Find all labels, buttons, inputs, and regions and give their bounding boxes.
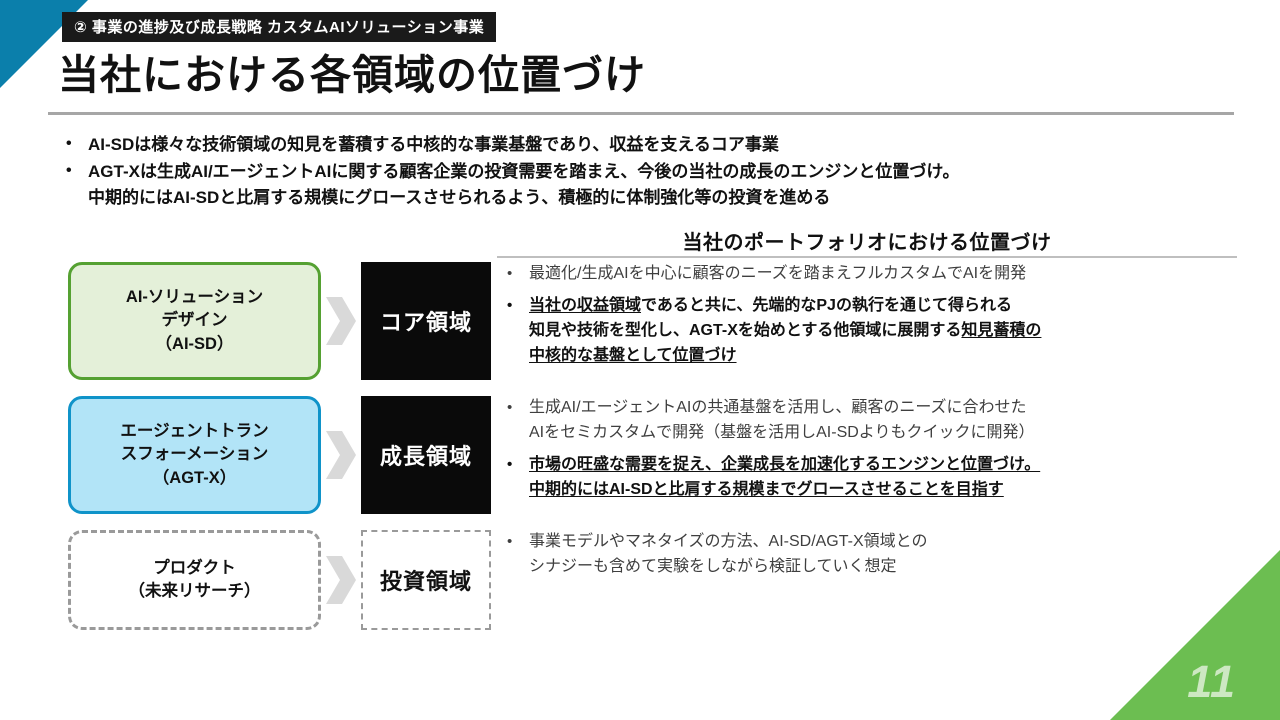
note-list: •生成AI/エージェントAIの共通基盤を活用し、顧客のニーズに合わせたAIをセミ… [491, 396, 1280, 503]
note-text-segment: 事業モデルやマネタイズの方法、AI-SD/AGT-X領域との [529, 533, 928, 550]
note-list: •最適化/生成AIを中心に顧客のニーズを踏まえフルカスタムでAIを開発•当社の収… [491, 262, 1280, 369]
matrix-row: プロダクト（未来リサーチ）投資領域•事業モデルやマネタイズの方法、AI-SD/A… [0, 530, 1280, 630]
portfolio-divider [497, 256, 1237, 258]
lead-bullet-item: •AI-SDは様々な技術領域の知見を蓄積する中核的な事業基盤であり、収益を支える… [66, 132, 1246, 158]
lead-bullet-line: 中期的にはAI-SDと比肩する規模にグロースさせられるよう、積極的に体制強化等の… [88, 185, 1246, 211]
bullet-dot-icon: • [66, 132, 88, 156]
category-tag[interactable]: 成長領域 [361, 396, 491, 514]
note-text-segment: 中期的にはAI-SDと比肩する規模までグロースさせることを目指す [529, 481, 1004, 498]
category-tag-label: 成長領域 [380, 439, 472, 471]
note-text-segment: 当社の収益領域 [529, 297, 641, 314]
domain-label-line: （AGT-X） [120, 467, 268, 490]
note-text: 生成AI/エージェントAIの共通基盤を活用し、顧客のニーズに合わせたAIをセミカ… [529, 396, 1240, 446]
note-item: •生成AI/エージェントAIの共通基盤を活用し、顧客のニーズに合わせたAIをセミ… [507, 396, 1240, 446]
domain-label-line: （AI-SD） [126, 333, 263, 356]
note-text-segment: 市場の旺盛な需要を捉え、企業成長を加速化するエンジンと位置づけ。 [529, 456, 1040, 473]
page-number: 11 [1187, 659, 1236, 704]
page-title: 当社における各領域の位置づけ [58, 41, 646, 101]
note-text: 当社の収益領域であると共に、先端的なPJの執行を通じて得られる知見や技術を型化し… [529, 294, 1240, 369]
domain-box[interactable]: プロダクト（未来リサーチ） [68, 530, 321, 630]
bullet-dot-icon: • [66, 159, 88, 183]
note-text-segment: 中核的な基盤として位置づけ [529, 347, 737, 364]
portfolio-section-heading: 当社のポートフォリオにおける位置づけ [497, 226, 1237, 255]
domain-box[interactable]: AI-ソリューションデザイン（AI-SD） [68, 262, 321, 380]
positioning-matrix: AI-ソリューションデザイン（AI-SD）コア領域•最適化/生成AIを中心に顧客… [0, 262, 1280, 630]
note-text: 市場の旺盛な需要を捉え、企業成長を加速化するエンジンと位置づけ。中期的にはAI-… [529, 453, 1240, 503]
category-tag[interactable]: コア領域 [361, 262, 491, 380]
note-text: 事業モデルやマネタイズの方法、AI-SD/AGT-X領域とのシナジーも含めて実験… [529, 530, 1240, 580]
domain-label-line: AI-ソリューション [126, 286, 263, 309]
note-text-segment: AIをセミカスタムで開発（基盤を活用しAI-SDよりもクイックに開発） [529, 424, 1034, 441]
lead-bullet-item: •AGT-Xは生成AI/エージェントAIに関する顧客企業の投資需要を踏まえ、今後… [66, 159, 1246, 211]
note-text-segment: 知見や技術を型化し、AGT-Xを始めとする他領域に展開する [529, 322, 961, 339]
lead-bullet-line: AI-SDは様々な技術領域の知見を蓄積する中核的な事業基盤であり、収益を支えるコ… [88, 132, 1246, 158]
note-text: 最適化/生成AIを中心に顧客のニーズを踏まえフルカスタムでAIを開発 [529, 262, 1240, 287]
lead-bullet-text: AGT-Xは生成AI/エージェントAIに関する顧客企業の投資需要を踏まえ、今後の… [88, 159, 1246, 211]
category-tag-label: コア領域 [380, 305, 472, 337]
domain-label-line: プロダクト [129, 557, 261, 580]
note-text-segment: 生成AI/エージェントAIの共通基盤を活用し、顧客のニーズに合わせた [529, 399, 1027, 416]
domain-box[interactable]: エージェントトランスフォーメーション（AGT-X） [68, 396, 321, 514]
note-item: •事業モデルやマネタイズの方法、AI-SD/AGT-X領域とのシナジーも含めて実… [507, 530, 1240, 580]
category-tag-label: 投資領域 [380, 564, 472, 596]
lead-bullet-list: •AI-SDは様々な技術領域の知見を蓄積する中核的な事業基盤であり、収益を支える… [66, 132, 1246, 211]
chevron-right-icon [321, 396, 361, 514]
matrix-row: AI-ソリューションデザイン（AI-SD）コア領域•最適化/生成AIを中心に顧客… [0, 262, 1280, 380]
bullet-dot-icon: • [507, 530, 529, 553]
bullet-dot-icon: • [507, 396, 529, 419]
category-tag[interactable]: 投資領域 [361, 530, 491, 630]
note-text-segment: 最適化/生成AIを中心に顧客のニーズを踏まえフルカスタムでAIを開発 [529, 265, 1026, 282]
domain-label-line: スフォーメーション [120, 443, 268, 466]
title-divider [48, 112, 1234, 115]
matrix-row: エージェントトランスフォーメーション（AGT-X）成長領域•生成AI/エージェン… [0, 396, 1280, 514]
domain-box-label: エージェントトランスフォーメーション（AGT-X） [120, 420, 268, 490]
note-text-segment: であると共に、先端的なPJの執行を通じて得られる [641, 297, 1012, 314]
note-text-segment: シナジーも含めて実験をしながら検証していく想定 [529, 558, 897, 575]
note-text-segment: 知見蓄積の [961, 322, 1041, 339]
note-item: •最適化/生成AIを中心に顧客のニーズを踏まえフルカスタムでAIを開発 [507, 262, 1240, 287]
domain-label-line: （未来リサーチ） [129, 580, 261, 603]
domain-box-label: AI-ソリューションデザイン（AI-SD） [126, 286, 263, 356]
note-item: •市場の旺盛な需要を捉え、企業成長を加速化するエンジンと位置づけ。中期的にはAI… [507, 453, 1240, 503]
domain-label-line: デザイン [126, 309, 263, 332]
bullet-dot-icon: • [507, 453, 529, 476]
domain-label-line: エージェントトラン [120, 420, 268, 443]
note-list: •事業モデルやマネタイズの方法、AI-SD/AGT-X領域とのシナジーも含めて実… [491, 530, 1280, 580]
chevron-right-icon [321, 262, 361, 380]
bullet-dot-icon: • [507, 262, 529, 285]
slide-canvas: 11 ② 事業の進捗及び成長戦略 カスタムAIソリューション事業 当社における各… [0, 0, 1280, 720]
domain-box-label: プロダクト（未来リサーチ） [129, 557, 261, 604]
chevron-right-icon [321, 530, 361, 630]
lead-bullet-line: AGT-Xは生成AI/エージェントAIに関する顧客企業の投資需要を踏まえ、今後の… [88, 159, 1246, 185]
lead-bullet-text: AI-SDは様々な技術領域の知見を蓄積する中核的な事業基盤であり、収益を支えるコ… [88, 132, 1246, 158]
section-eyebrow-badge: ② 事業の進捗及び成長戦略 カスタムAIソリューション事業 [62, 12, 496, 42]
bullet-dot-icon: • [507, 294, 529, 317]
note-item: •当社の収益領域であると共に、先端的なPJの執行を通じて得られる知見や技術を型化… [507, 294, 1240, 369]
